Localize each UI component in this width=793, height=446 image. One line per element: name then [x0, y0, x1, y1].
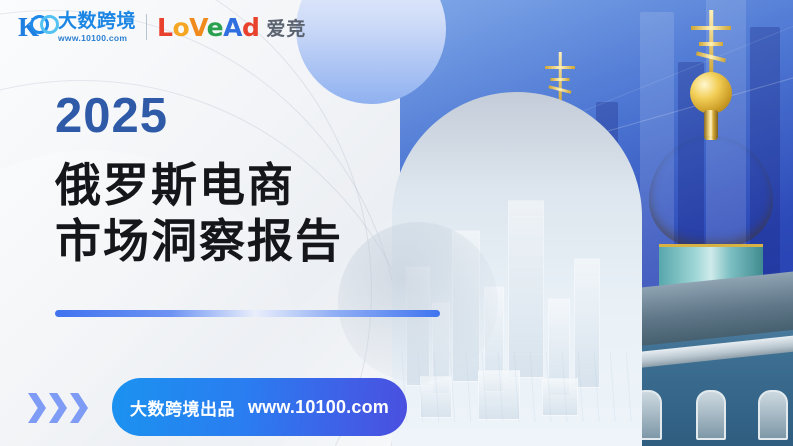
- lovead-letter-o: o: [172, 13, 189, 42]
- lovead-name-cn: 爱竞: [266, 14, 306, 41]
- title-gradient-rule: [55, 310, 440, 317]
- lovead-letter-e: e: [207, 13, 223, 42]
- logo-ring-inner: [40, 15, 59, 34]
- lovead-letter-v: V: [189, 13, 206, 42]
- dome-finial-ball: [690, 72, 732, 114]
- chevron-right-icon: [49, 393, 67, 423]
- chevron-arrows-group: [28, 393, 88, 423]
- building-window: [696, 390, 726, 440]
- chevron-right-icon: [28, 393, 46, 423]
- chevron-right-icon: [70, 393, 88, 423]
- lovead-letter-d: d: [242, 13, 259, 42]
- 10100-loop-mark-icon: K: [18, 12, 54, 42]
- onion-dome-bulb: [649, 136, 773, 248]
- publisher-url: www.10100.com: [248, 397, 389, 418]
- logo-dashu-name: 大数跨境: [58, 12, 136, 31]
- dome-central-main: [636, 10, 786, 310]
- lovead-letter-l: L: [157, 13, 172, 42]
- logo-dashu-url: www.10100.com: [58, 34, 136, 43]
- logo-lovead[interactable]: LoVeAd 爱竞: [157, 14, 306, 41]
- orthodox-cross-icon: [683, 10, 739, 76]
- lovead-wordmark: LoVeAd: [157, 15, 259, 40]
- report-year: 2025: [55, 92, 343, 141]
- publisher-pill-banner[interactable]: 大数跨境出品 www.10100.com: [112, 378, 407, 436]
- report-cover-slide: K 大数跨境 www.10100.com LoVeAd 爱竞 2025 俄罗斯电…: [0, 0, 793, 446]
- lovead-letter-a: A: [223, 13, 242, 42]
- cover-title-block: 2025 俄罗斯电商 市场洞察报告: [55, 92, 343, 269]
- publisher-name: 大数跨境出品: [130, 395, 235, 420]
- report-title-line-2: 市场洞察报告: [55, 213, 343, 269]
- building-window: [758, 390, 788, 440]
- report-title-line-1: 俄罗斯电商: [55, 157, 343, 213]
- logo-dashu-kuajing[interactable]: K 大数跨境 www.10100.com: [18, 12, 136, 43]
- logo-divider: [146, 14, 147, 40]
- decorative-grey-circle: [338, 222, 498, 382]
- header-logo-bar: K 大数跨境 www.10100.com LoVeAd 爱竞: [18, 12, 306, 43]
- logo-dashu-text: 大数跨境 www.10100.com: [58, 12, 136, 43]
